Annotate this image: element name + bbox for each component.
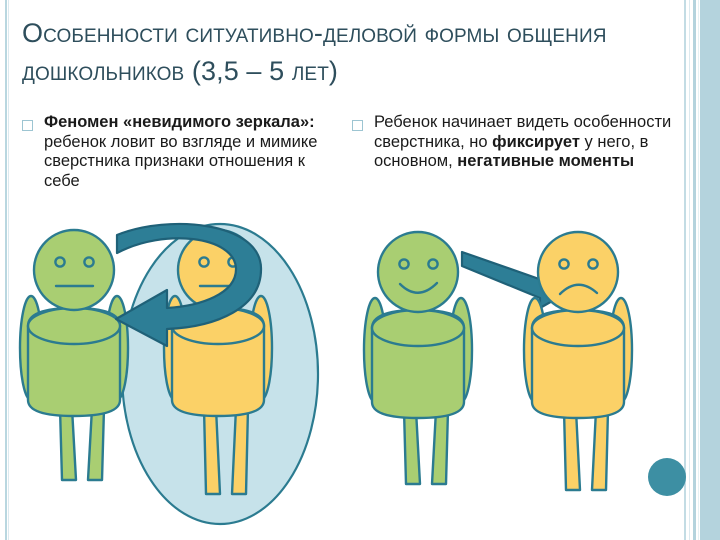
bullet-text-right: Ребенок начинает видеть особенности свер… [374,113,672,172]
green-head-smiling [378,232,458,312]
yellow-head-frowning [538,232,618,312]
border-stripe-right-2 [689,0,690,540]
border-stripe-right-band [700,0,720,540]
green-child-figure-smiling [364,232,472,484]
slide-title: Особенности ситуативно-деловой формы общ… [22,14,662,90]
bullet-column-right: Ребенок начинает видеть особенности свер… [352,113,672,172]
border-stripe-right-4 [698,0,699,540]
green-child-figure [20,230,128,480]
yellow-child-figure-frowning [524,232,632,490]
square-bullet-icon [22,120,33,131]
illustration-mirror-scene [4,222,352,540]
border-stripe-right-3 [693,0,696,540]
green-head [34,230,114,310]
teal-dot-decoration [648,458,686,496]
bullet-text-left: Феномен «невидимого зеркала»: ребенок ло… [44,113,342,191]
slide-canvas: Особенности ситуативно-деловой формы общ… [0,0,720,540]
bullet-column-left: Феномен «невидимого зеркала»: ребенок ло… [22,113,342,191]
bullet-item-right: Ребенок начинает видеть особенности свер… [352,113,672,172]
illustration-negative-scene [352,222,682,540]
square-bullet-icon [352,120,363,131]
border-stripe-right-1 [684,0,686,540]
bullet-item-left: Феномен «невидимого зеркала»: ребенок ло… [22,113,342,191]
